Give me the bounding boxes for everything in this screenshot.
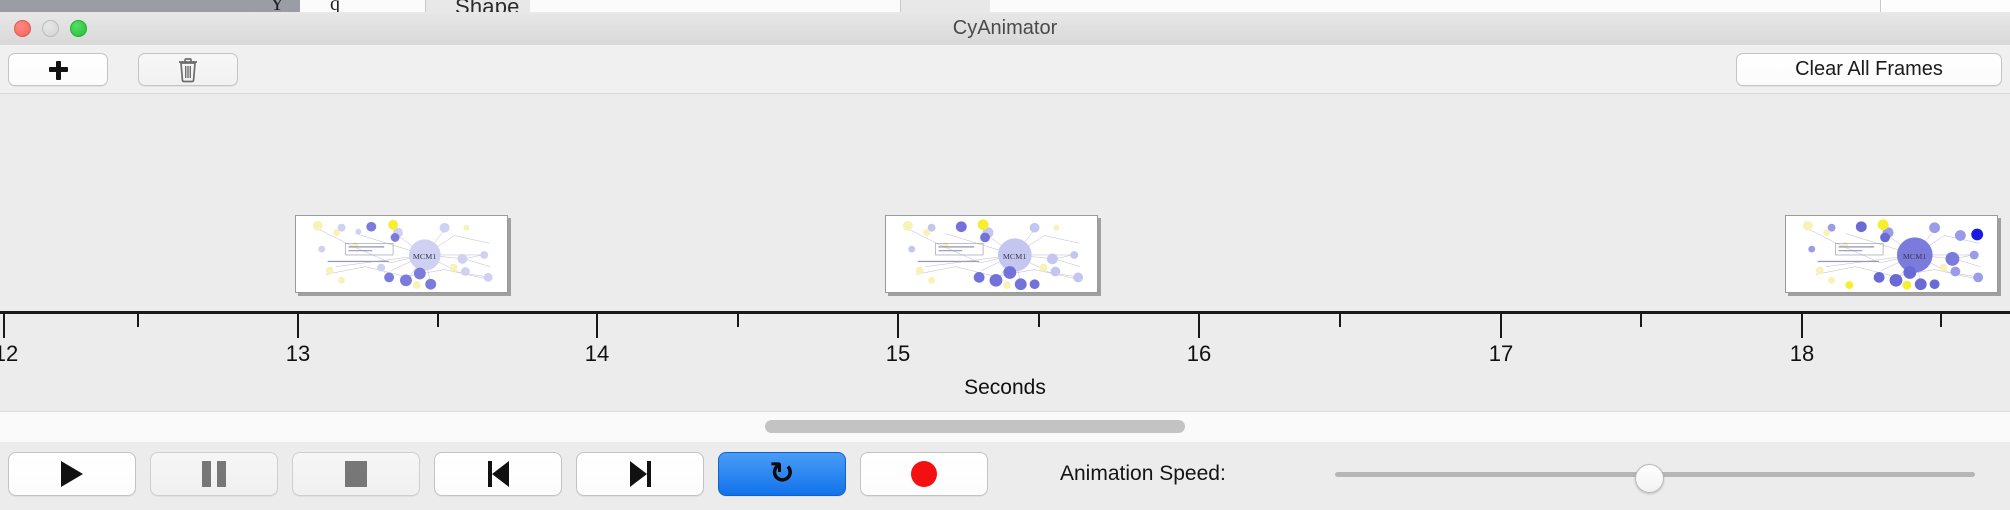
window-title: CyAnimator [0, 12, 2010, 45]
skip-back-icon [488, 461, 509, 487]
ruler-tick-minor [137, 314, 139, 327]
clear-all-frames-button[interactable]: Clear All Frames [1736, 53, 2002, 86]
ruler-label: 14 [585, 341, 609, 367]
background-window-segment [530, 0, 666, 12]
ruler-tick-major [3, 314, 5, 338]
loop-icon: ↻ [769, 459, 794, 489]
record-button[interactable] [860, 452, 988, 496]
ruler-tick-minor [1940, 314, 1942, 327]
ruler-tick-minor [1339, 314, 1341, 327]
ruler-label: 15 [886, 341, 910, 367]
ruler-tick-major [297, 314, 299, 338]
toolbar: Clear All Frames [0, 45, 2010, 94]
background-window-titlebar [0, 0, 300, 12]
playback-controls: ↻ Animation Speed: [0, 442, 2010, 510]
stop-button[interactable] [292, 452, 420, 496]
thumbnail-hub-label: MCM1 [1903, 252, 1926, 261]
pause-icon [202, 461, 226, 487]
stop-icon [345, 461, 367, 487]
play-button[interactable] [8, 452, 136, 496]
title-bar: CyAnimator [0, 12, 2010, 46]
ruler-label: 18 [1790, 341, 1814, 367]
ruler-tick-major [1198, 314, 1200, 338]
ruler-tick-minor [1038, 314, 1040, 327]
ruler-baseline [0, 311, 2010, 314]
animation-speed-label: Animation Speed: [1060, 452, 1226, 496]
cyanimator-window: Y q Shape CyAnimator Clear All Frames [0, 0, 2010, 510]
timeline-frame-thumbnail[interactable]: MCM1 [295, 215, 508, 293]
ruler-tick-minor [437, 314, 439, 327]
ruler-tick-major [1500, 314, 1502, 338]
skip-forward-icon [630, 461, 651, 487]
background-window-segment [990, 0, 1881, 12]
timeline-scrollbar[interactable] [0, 411, 2010, 444]
scrollbar-thumb[interactable] [765, 420, 1185, 433]
timeline-frame-thumbnail[interactable]: MCM1 [1785, 215, 1998, 293]
background-window-segment [665, 0, 901, 12]
plus-icon [48, 60, 68, 80]
timeline-top-divider [0, 93, 2010, 94]
background-window-segment [900, 0, 992, 12]
ruler-tick-minor [737, 314, 739, 327]
time-ruler[interactable]: 12 13 14 15 16 17 18 Seconds [0, 311, 2010, 411]
background-window-label: Shape [455, 0, 520, 12]
ruler-tick-major [1801, 314, 1803, 338]
ruler-label: 17 [1489, 341, 1513, 367]
ruler-label: 16 [1187, 341, 1211, 367]
thumbnail-hub-label: MCM1 [1003, 252, 1026, 261]
animation-speed-slider-thumb[interactable] [1635, 464, 1664, 493]
thumbnail-hub-label: MCM1 [413, 252, 436, 261]
play-icon [61, 461, 83, 487]
record-icon [911, 461, 937, 487]
ruler-axis-title: Seconds [0, 376, 2010, 400]
background-window-strip: Y q Shape [0, 0, 2010, 12]
timeline-frame-thumbnail[interactable]: MCM1 [885, 215, 1098, 293]
delete-frame-button[interactable] [138, 53, 238, 86]
ruler-label: 13 [286, 341, 310, 367]
pause-button[interactable] [150, 452, 278, 496]
background-window-segment [300, 0, 426, 12]
timeline-panel[interactable]: MCM1 [0, 93, 2010, 311]
add-frame-button[interactable] [8, 53, 108, 86]
ruler-label: 12 [0, 341, 18, 367]
trash-icon [177, 57, 199, 83]
loop-button[interactable]: ↻ [718, 452, 846, 496]
ruler-tick-major [596, 314, 598, 338]
ruler-tick-minor [1640, 314, 1642, 327]
ruler-tick-major [897, 314, 899, 338]
next-frame-button[interactable] [576, 452, 704, 496]
prev-frame-button[interactable] [434, 452, 562, 496]
